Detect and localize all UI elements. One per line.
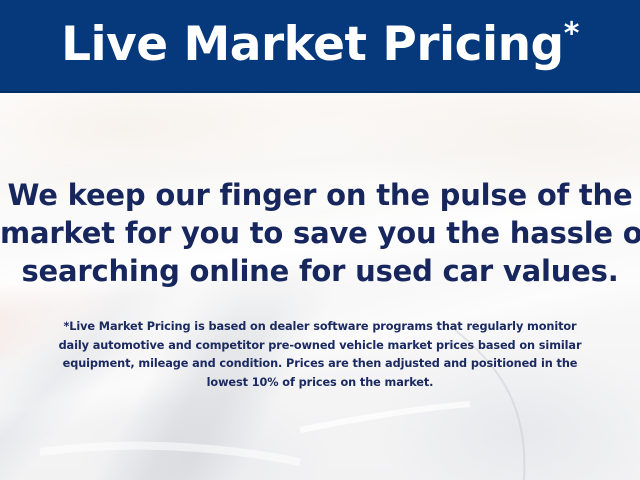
headline-line: market for you to save you the hassle of [0, 214, 640, 252]
disclaimer-line: *Live Market Pricing is based on dealer … [24, 318, 616, 337]
page-title: Live Market Pricing* [61, 21, 579, 70]
page-title-asterisk: * [564, 16, 579, 51]
headline-block: We keep our finger on the pulse of the m… [0, 176, 640, 290]
live-market-pricing-banner: Live Market Pricing* We keep our finger … [0, 0, 640, 480]
disclaimer-line: daily automotive and competitor pre-owne… [24, 337, 616, 356]
page-title-text: Live Market Pricing [61, 17, 564, 72]
disclaimer-line: lowest 10% of prices on the market. [24, 374, 616, 393]
disclaimer-line: equipment, mileage and condition. Prices… [24, 355, 616, 374]
headline-line: searching online for used car values. [0, 252, 640, 290]
disclaimer-block: *Live Market Pricing is based on dealer … [24, 318, 616, 392]
headline-line: We keep our finger on the pulse of the [0, 176, 640, 214]
header-band: Live Market Pricing* [0, 0, 640, 93]
